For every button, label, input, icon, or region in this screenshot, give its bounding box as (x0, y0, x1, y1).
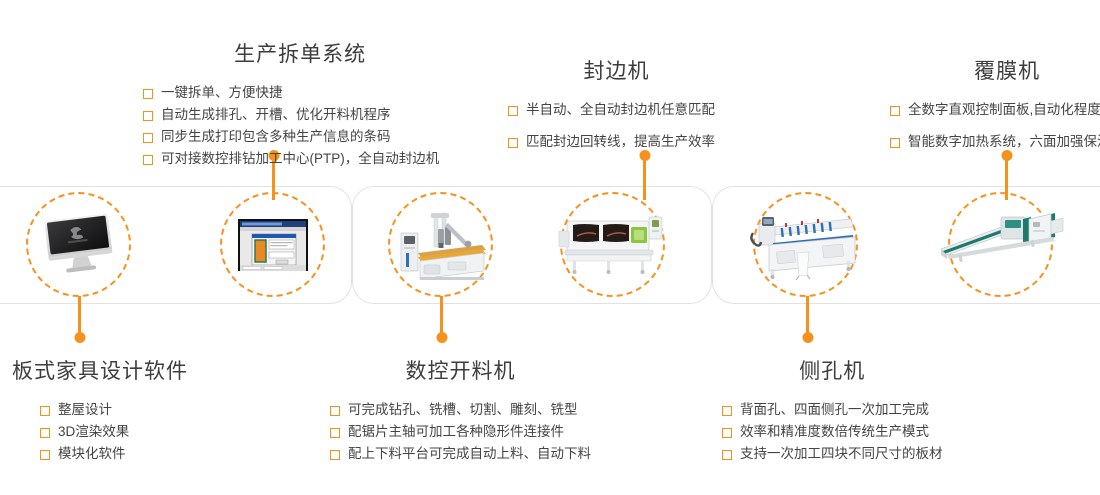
side-hole-machine-title: 侧孔机 (722, 355, 943, 385)
block-design-software: 板式家具设计软件 整屋设计 3D渲染效果 模块化软件 (12, 355, 188, 465)
connector-knob (436, 332, 447, 343)
imac-computer-icon (36, 209, 122, 281)
list-item: 智能数字加热系统，六面加强保温 (890, 131, 1100, 153)
list-item: 配锯片主轴可加工各种隐形件连接件 (330, 421, 591, 443)
software-screen-icon (230, 209, 316, 281)
list-item: 可完成钻孔、铣槽、切割、雕刻、铣型 (330, 399, 591, 421)
list-item: 效率和精准度数倍传统生产模式 (722, 421, 943, 443)
cnc-router-machine-icon (398, 209, 484, 281)
block-edge-banding-machine: 封边机 半自动、全自动封边机任意匹配 匹配封边回转线，提高生产效率 (508, 55, 715, 153)
connector-knob (74, 332, 85, 343)
design-software-title: 板式家具设计软件 (12, 355, 188, 385)
design-software-list: 整屋设计 3D渲染效果 模块化软件 (40, 399, 188, 465)
list-item: 背面孔、四面侧孔一次加工完成 (722, 399, 943, 421)
list-item: 配上下料平台可完成自动上料、自动下料 (330, 443, 591, 465)
connector-edge-banding-machine (643, 155, 646, 200)
list-item: 3D渲染效果 (40, 421, 188, 443)
node-software-ui[interactable] (220, 192, 325, 297)
list-item: 同步生成打印包含多种生产信息的条码 (143, 126, 439, 148)
side-hole-machine-list: 背面孔、四面侧孔一次加工完成 效率和精准度数倍传统生产模式 支持一次加工四块不同… (722, 399, 943, 465)
list-item: 一键拆单、方便快捷 (143, 82, 439, 104)
laminating-machine-title: 覆膜机 (900, 55, 1100, 85)
connector-design-software (78, 296, 81, 338)
laminating-machine-list: 全数字直观控制面板,自动化程度高 智能数字加热系统，六面加强保温 (890, 99, 1100, 153)
edge-banding-machine-title: 封边机 (518, 55, 715, 85)
block-side-hole-machine: 侧孔机 背面孔、四面侧孔一次加工完成 效率和精准度数倍传统生产模式 支持一次加工… (722, 355, 943, 465)
list-item: 自动生成排孔、开槽、优化开料机程序 (143, 104, 439, 126)
list-item: 模块化软件 (40, 443, 188, 465)
edge-banding-machine-icon (557, 209, 669, 281)
cnc-cutting-machine-list: 可完成钻孔、铣槽、切割、雕刻、铣型 配锯片主轴可加工各种隐形件连接件 配上下料平… (330, 399, 591, 465)
connector-cnc-cutting-machine (440, 296, 443, 338)
list-item: 整屋设计 (40, 399, 188, 421)
node-side-driller[interactable] (753, 192, 858, 297)
list-item: 可对接数控排钻加工中心(PTP)，全自动封边机 (143, 148, 439, 170)
connector-knob (802, 332, 813, 343)
split-order-system-list: 一键拆单、方便快捷 自动生成排孔、开槽、优化开料机程序 同步生成打印包含多种生产… (143, 82, 439, 170)
split-order-system-title: 生产拆单系统 (161, 38, 439, 68)
block-split-order-system: 生产拆单系统 一键拆单、方便快捷 自动生成排孔、开槽、优化开料机程序 同步生成打… (143, 38, 439, 170)
list-item: 支持一次加工四块不同尺寸的板材 (722, 443, 943, 465)
node-laminator[interactable] (948, 192, 1053, 297)
connector-side-hole-machine (806, 296, 809, 338)
block-laminating-machine: 覆膜机 全数字直观控制面板,自动化程度高 智能数字加热系统，六面加强保温 (890, 55, 1100, 153)
laminating-machine-icon (939, 209, 1063, 281)
infographic-canvas: 生产拆单系统 一键拆单、方便快捷 自动生成排孔、开槽、优化开料机程序 同步生成打… (0, 0, 1100, 495)
block-cnc-cutting-machine: 数控开料机 可完成钻孔、铣槽、切割、雕刻、铣型 配锯片主轴可加工各种隐形件连接件… (330, 355, 591, 465)
edge-banding-machine-list: 半自动、全自动封边机任意匹配 匹配封边回转线，提高生产效率 (508, 99, 715, 153)
side-hole-drilling-machine-icon (747, 209, 865, 281)
cnc-cutting-machine-title: 数控开料机 (330, 355, 591, 385)
list-item: 全数字直观控制面板,自动化程度高 (890, 99, 1100, 121)
list-item: 半自动、全自动封边机任意匹配 (508, 99, 715, 121)
node-edge-bander[interactable] (560, 192, 665, 297)
list-item: 匹配封边回转线，提高生产效率 (508, 131, 715, 153)
node-cnc-router[interactable] (388, 192, 493, 297)
node-imac[interactable] (26, 192, 131, 297)
